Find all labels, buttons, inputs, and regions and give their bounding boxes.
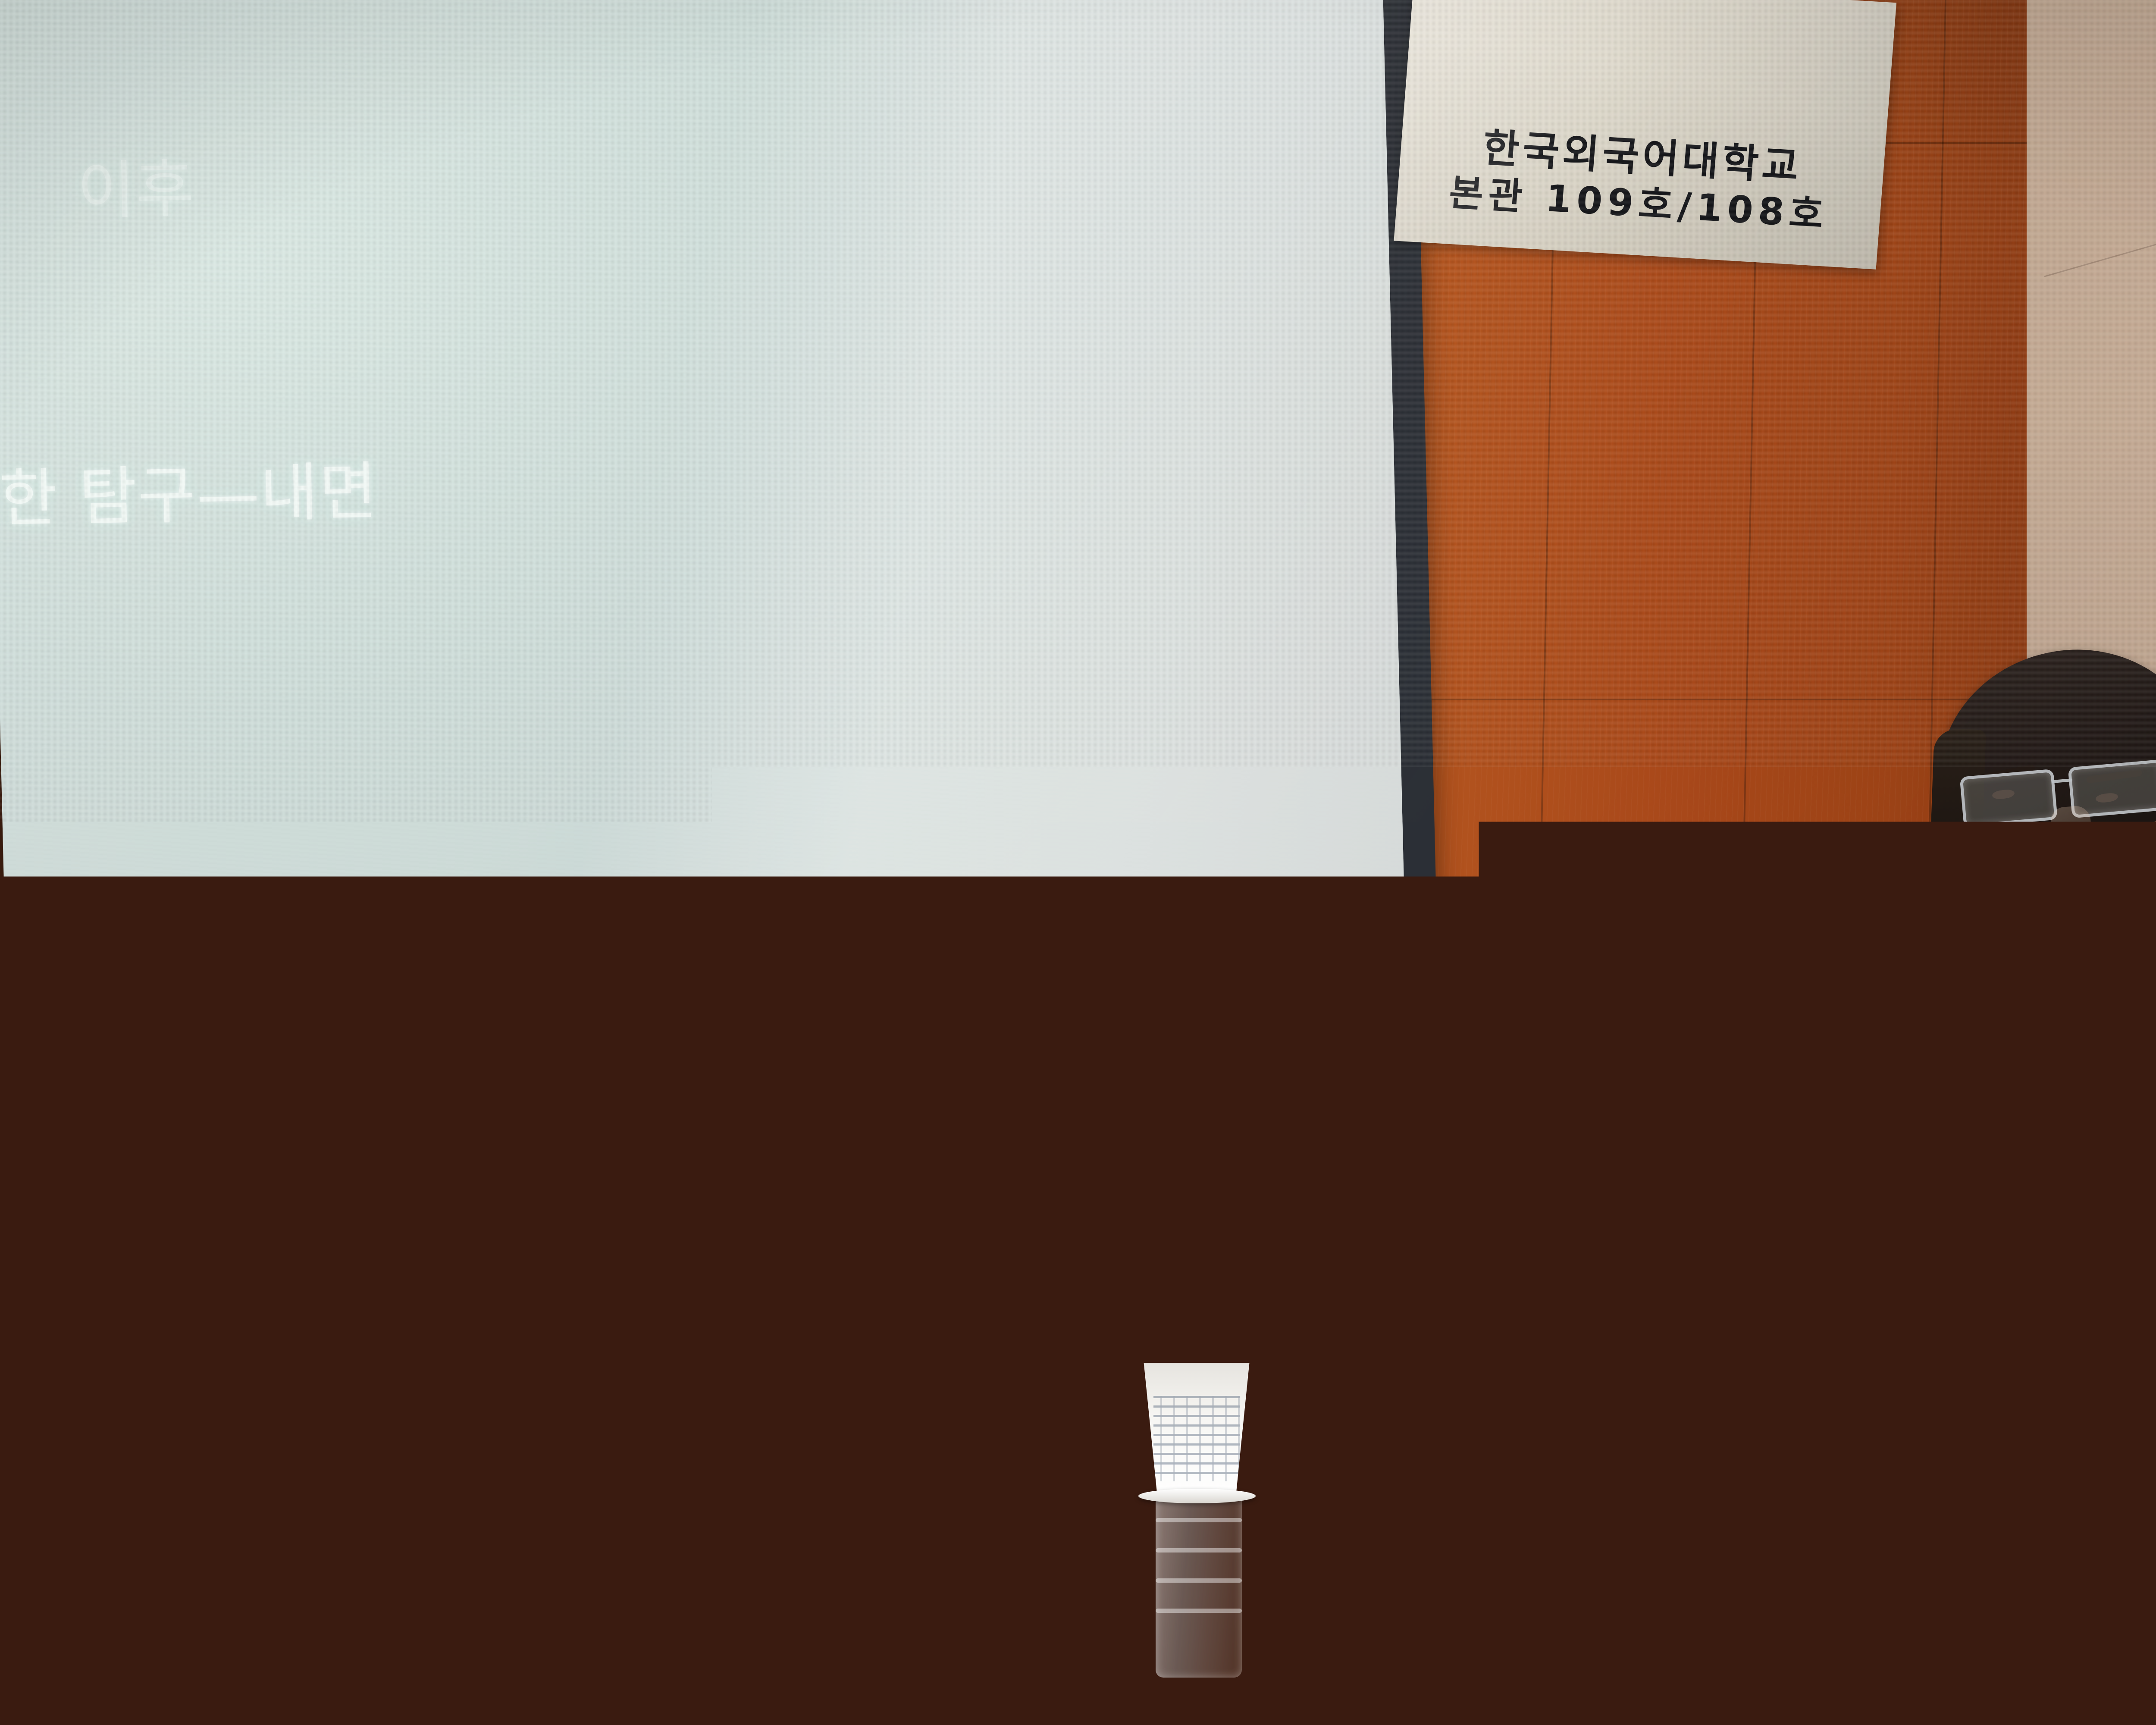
slide-line-2: ess)에 대한 탐구—내면 bbox=[0, 428, 1001, 555]
green-sign bbox=[1733, 1535, 1833, 1725]
slide-line-3: n) bbox=[0, 734, 1008, 862]
projection-screen-surface: 이후 ess)에 대한 탐구—내면 n) culture)의 수용—대중 의 등… bbox=[0, 0, 1413, 1279]
table-mic-grille bbox=[302, 1596, 379, 1673]
slide-line-4: culture)의 수용—대중 bbox=[0, 1040, 1014, 1167]
paper-cup-rim bbox=[1138, 1489, 1256, 1503]
banner-shading bbox=[1394, 0, 1896, 270]
bottle-rib bbox=[1156, 1518, 1242, 1522]
slide-line-1: 이후 bbox=[0, 122, 995, 250]
chair[interactable] bbox=[0, 1340, 160, 1618]
table-mic-stem bbox=[332, 1665, 350, 1696]
panel-seam bbox=[0, 1372, 1755, 1408]
nameplate-glare bbox=[495, 1521, 553, 1706]
panel-seam-diagonal bbox=[2044, 176, 2156, 277]
table-nameplate: 발표 과학기술대학교 남기현 bbox=[384, 1506, 901, 1710]
table-nameplate-role: 발표 bbox=[414, 1620, 467, 1660]
bottle-rib bbox=[1156, 1578, 1242, 1583]
mouse-button-seam bbox=[1761, 1212, 1767, 1244]
green-sign-bolt bbox=[1793, 1643, 1800, 1650]
table-nameplate-card: 과학기술대학교 남기현 bbox=[514, 1506, 901, 1704]
glasses-lens-left bbox=[1959, 769, 2057, 828]
bottle-rib bbox=[1156, 1548, 1242, 1552]
paper-cup[interactable] bbox=[1143, 1363, 1250, 1501]
podium-nameplate-role: 사회 bbox=[2093, 1041, 2141, 1077]
table-nameplate-name: 남기현 bbox=[516, 1562, 877, 1690]
conference-hall-photo: 이후 ess)에 대한 탐구—내면 n) culture)의 수용—대중 의 등… bbox=[0, 0, 2156, 1725]
table-microphone[interactable] bbox=[302, 1596, 388, 1695]
venue-banner: 한국외국어대학교 본관 109호/108호 bbox=[1394, 0, 1896, 270]
green-sign-bolt bbox=[1793, 1613, 1800, 1620]
microphone-body bbox=[1985, 987, 2065, 1178]
projection-screen: 이후 ess)에 대한 탐구—내면 n) culture)의 수용—대중 의 등… bbox=[0, 0, 1445, 1315]
table-nameplate-affiliation: 과학기술대학교 bbox=[657, 1541, 772, 1571]
green-sign-panel bbox=[1742, 1531, 1828, 1582]
bottle-rib bbox=[1156, 1609, 1242, 1613]
paper-cup-printing bbox=[1153, 1396, 1240, 1481]
water-bottle[interactable] bbox=[1156, 1492, 1242, 1678]
